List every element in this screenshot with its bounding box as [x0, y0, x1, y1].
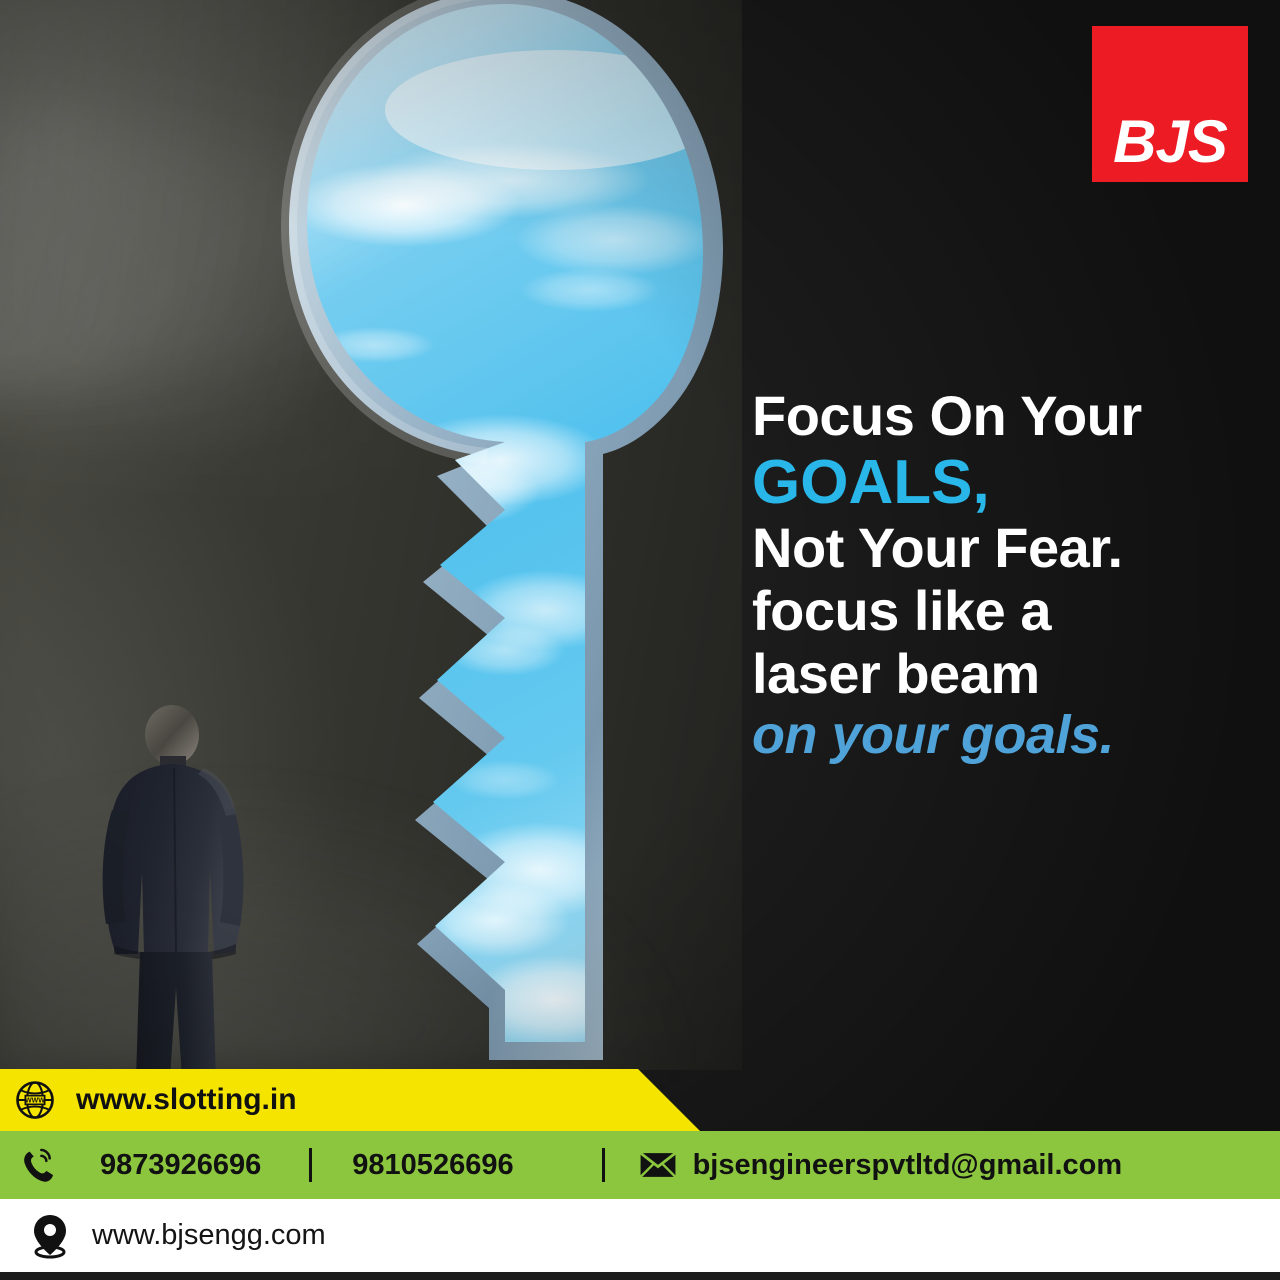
headline-line-5: laser beam: [752, 643, 1252, 706]
company-website-text[interactable]: www.bjsengg.com: [92, 1219, 326, 1252]
phone-number-2[interactable]: 9810526696: [352, 1149, 513, 1182]
headline-line-4: focus like a: [752, 580, 1252, 643]
businessman-figure: [84, 702, 274, 1082]
headline-line-goals: GOALS,: [752, 448, 1252, 517]
email-address[interactable]: bjsengineerspvtltd@gmail.com: [693, 1149, 1123, 1182]
headline-block: Focus On Your GOALS, Not Your Fear. focu…: [752, 385, 1252, 766]
bjs-logo: BJS: [1092, 26, 1248, 182]
headline-line-3: Not Your Fear.: [752, 517, 1252, 580]
headline-line-1: Focus On Your: [752, 385, 1252, 448]
contact-divider-1: [309, 1148, 312, 1182]
contact-divider-2: [602, 1148, 605, 1182]
location-pin-icon: [30, 1213, 70, 1259]
website-url-text[interactable]: www.slotting.in: [76, 1083, 297, 1117]
phone-icon: [18, 1145, 58, 1185]
bjs-logo-text: BJS: [1113, 112, 1227, 182]
website-bar: WWW www.slotting.in: [0, 1069, 700, 1131]
phone-number-1[interactable]: 9873926696: [100, 1149, 261, 1182]
location-bar: www.bjsengg.com: [0, 1199, 1280, 1272]
globe-www-icon: WWW: [14, 1079, 56, 1121]
contact-bar: 9873926696 9810526696 bjsengineerspvtltd…: [0, 1131, 1280, 1199]
headline-line-6: on your goals.: [752, 705, 1252, 765]
keyhole-doorway: [255, 0, 755, 1080]
envelope-icon: [639, 1150, 677, 1180]
svg-text:WWW: WWW: [25, 1098, 45, 1105]
poster-canvas: BJS Focus On Your GOALS, Not Your Fear. …: [0, 0, 1280, 1280]
bottom-strip: [0, 1272, 1280, 1280]
